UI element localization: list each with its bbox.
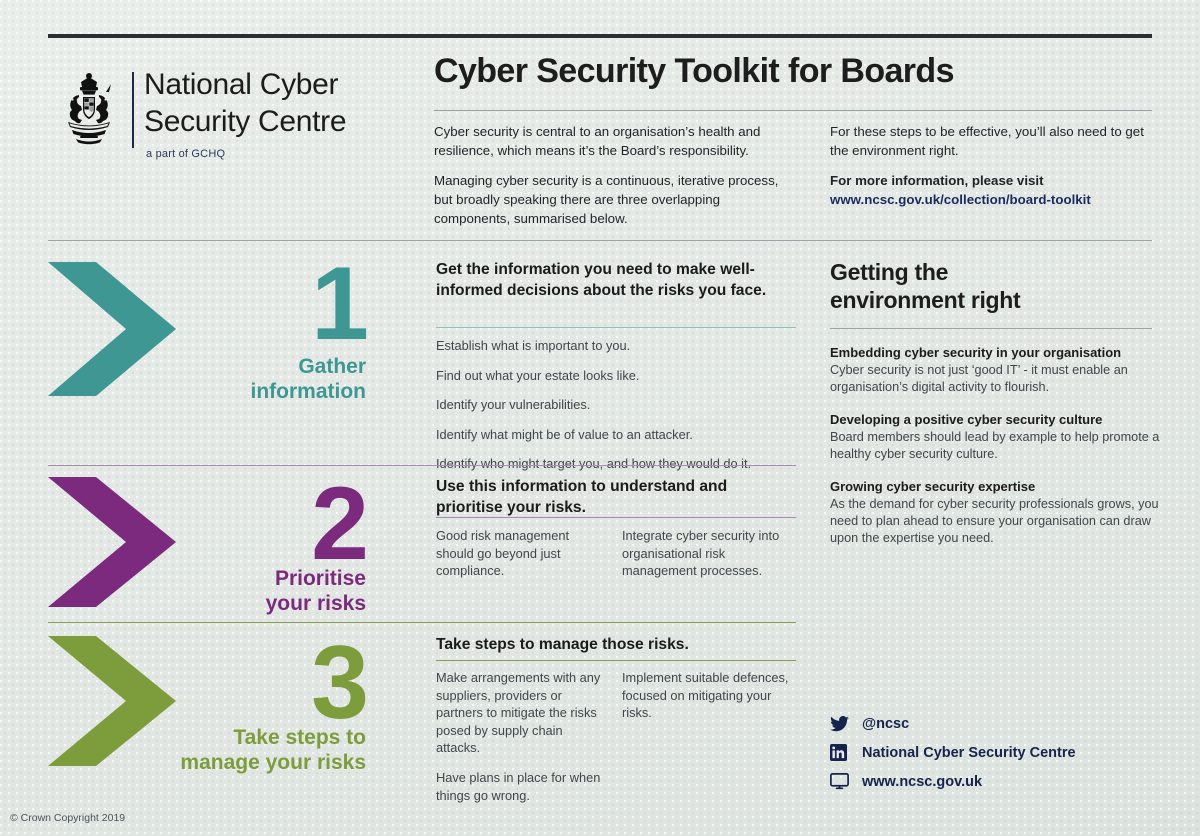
step-label-2-line-1: Prioritise — [150, 566, 366, 591]
step-label-1: Gather information — [150, 354, 366, 404]
step-number-1: 1 — [230, 258, 366, 350]
title-underline — [434, 110, 1152, 111]
intro-paragraph-2: Managing cyber security is a continuous,… — [434, 171, 784, 228]
copyright-notice: © Crown Copyright 2019 — [10, 812, 125, 824]
step-body-3-col-1: Make arrangements with any suppliers, pr… — [436, 669, 608, 804]
step-heading-3: Take steps to manage those risks. — [436, 634, 796, 655]
toolkit-link[interactable]: www.ncsc.gov.uk/collection/board-toolkit — [830, 192, 1091, 207]
environment-item-3-body: As the demand for cyber security profess… — [830, 496, 1160, 547]
social-links: @ncsc National Cyber Security Centre — [830, 710, 1170, 797]
linkedin-name: National Cyber Security Centre — [862, 745, 1076, 761]
step-divider-3 — [48, 622, 796, 623]
step-3-col1-text-2: Have plans in place for when things go w… — [436, 769, 608, 804]
logo-line-1: National Cyber — [144, 66, 346, 103]
intro-paragraph-1: Cyber security is central to an organisa… — [434, 122, 784, 160]
step-body-3-col-2: Implement suitable defences, focused on … — [622, 669, 796, 722]
step-3-col2-text: Implement suitable defences, focused on … — [622, 669, 796, 722]
logo-strapline: a part of GCHQ — [146, 148, 225, 160]
logo-line-2: Security Centre — [144, 103, 346, 140]
top-rule — [48, 34, 1152, 38]
linkedin-icon — [830, 744, 852, 762]
page-title: Cyber Security Toolkit for Boards — [434, 52, 1154, 91]
step-1-bullet-4: Identify what might be of value to an at… — [436, 426, 796, 444]
twitter-handle: @ncsc — [862, 716, 909, 732]
step-number-3: 3 — [230, 637, 366, 729]
step-1-bullet-3: Identify your vulnerabilities. — [436, 396, 796, 414]
step-label-1-line-2: information — [150, 379, 366, 404]
step-label-2-line-2: your risks — [150, 591, 366, 616]
logo-wordmark: National Cyber Security Centre — [144, 66, 346, 140]
intro-left-column: Cyber security is central to an organisa… — [434, 122, 784, 239]
environment-note: For these steps to be effective, you’ll … — [830, 122, 1160, 160]
step-label-3: Take steps to manage your risks — [60, 725, 366, 775]
infographic-page: National Cyber Security Centre a part of… — [0, 0, 1200, 836]
step-1-bullet-2: Find out what your estate looks like. — [436, 367, 796, 385]
step-heading-1: Get the information you need to make wel… — [436, 259, 796, 301]
environment-title-line-2: environment right — [830, 286, 1160, 314]
step-body-2-col-1: Good risk management should go beyond ju… — [436, 527, 606, 580]
social-row-website[interactable]: www.ncsc.gov.uk — [830, 768, 1170, 795]
environment-title: Getting the environment right — [830, 258, 1160, 314]
more-info-label: For more information, please visit — [830, 173, 1044, 188]
environment-item-3-heading: Growing cyber security expertise — [830, 479, 1160, 494]
environment-item-1-body: Cyber security is not just ‘good IT’ - i… — [830, 362, 1160, 396]
step-underline-3 — [436, 660, 796, 661]
step-label-3-line-2: manage your risks — [60, 750, 366, 775]
intro-right-column: For these steps to be effective, you’ll … — [830, 122, 1160, 220]
environment-rule — [830, 328, 1152, 329]
environment-item-2-body: Board members should lead by example to … — [830, 429, 1160, 463]
environment-item-1: Embedding cyber security in your organis… — [830, 345, 1160, 396]
monitor-icon — [830, 773, 852, 791]
step-label-3-line-1: Take steps to — [60, 725, 366, 750]
step-2-col2-text: Integrate cyber security into organisati… — [622, 527, 796, 580]
twitter-icon — [830, 715, 852, 733]
environment-item-3: Growing cyber security expertise As the … — [830, 479, 1160, 547]
header: National Cyber Security Centre a part of… — [0, 0, 1200, 226]
environment-column: Getting the environment right Embedding … — [830, 258, 1160, 547]
step-heading-2: Use this information to understand and p… — [436, 476, 796, 518]
royal-coat-of-arms-icon — [58, 70, 120, 150]
step-divider-2 — [48, 465, 796, 466]
step-underline-2 — [436, 517, 796, 518]
step-label-2: Prioritise your risks — [150, 566, 366, 616]
step-1-bullet-1: Establish what is important to you. — [436, 337, 796, 355]
step-body-2-col-2: Integrate cyber security into organisati… — [622, 527, 796, 580]
environment-item-2: Developing a positive cyber security cul… — [830, 412, 1160, 463]
step-body-1-col-1: Establish what is important to you. Find… — [436, 337, 796, 473]
step-3-col1-text-1: Make arrangements with any suppliers, pr… — [436, 669, 608, 757]
header-bottom-rule — [48, 240, 1152, 241]
logo-divider — [132, 72, 134, 148]
environment-title-line-1: Getting the — [830, 258, 1160, 286]
step-label-1-line-1: Gather — [150, 354, 366, 379]
social-row-linkedin[interactable]: National Cyber Security Centre — [830, 739, 1170, 766]
website-url: www.ncsc.gov.uk — [862, 774, 982, 790]
environment-item-1-heading: Embedding cyber security in your organis… — [830, 345, 1160, 360]
step-number-2: 2 — [230, 478, 366, 570]
step-underline-1 — [436, 327, 796, 328]
social-row-twitter[interactable]: @ncsc — [830, 710, 1170, 737]
environment-item-2-heading: Developing a positive cyber security cul… — [830, 412, 1160, 427]
ncsc-logo: National Cyber Security Centre a part of… — [48, 68, 398, 178]
step-2-col1-text: Good risk management should go beyond ju… — [436, 527, 606, 580]
